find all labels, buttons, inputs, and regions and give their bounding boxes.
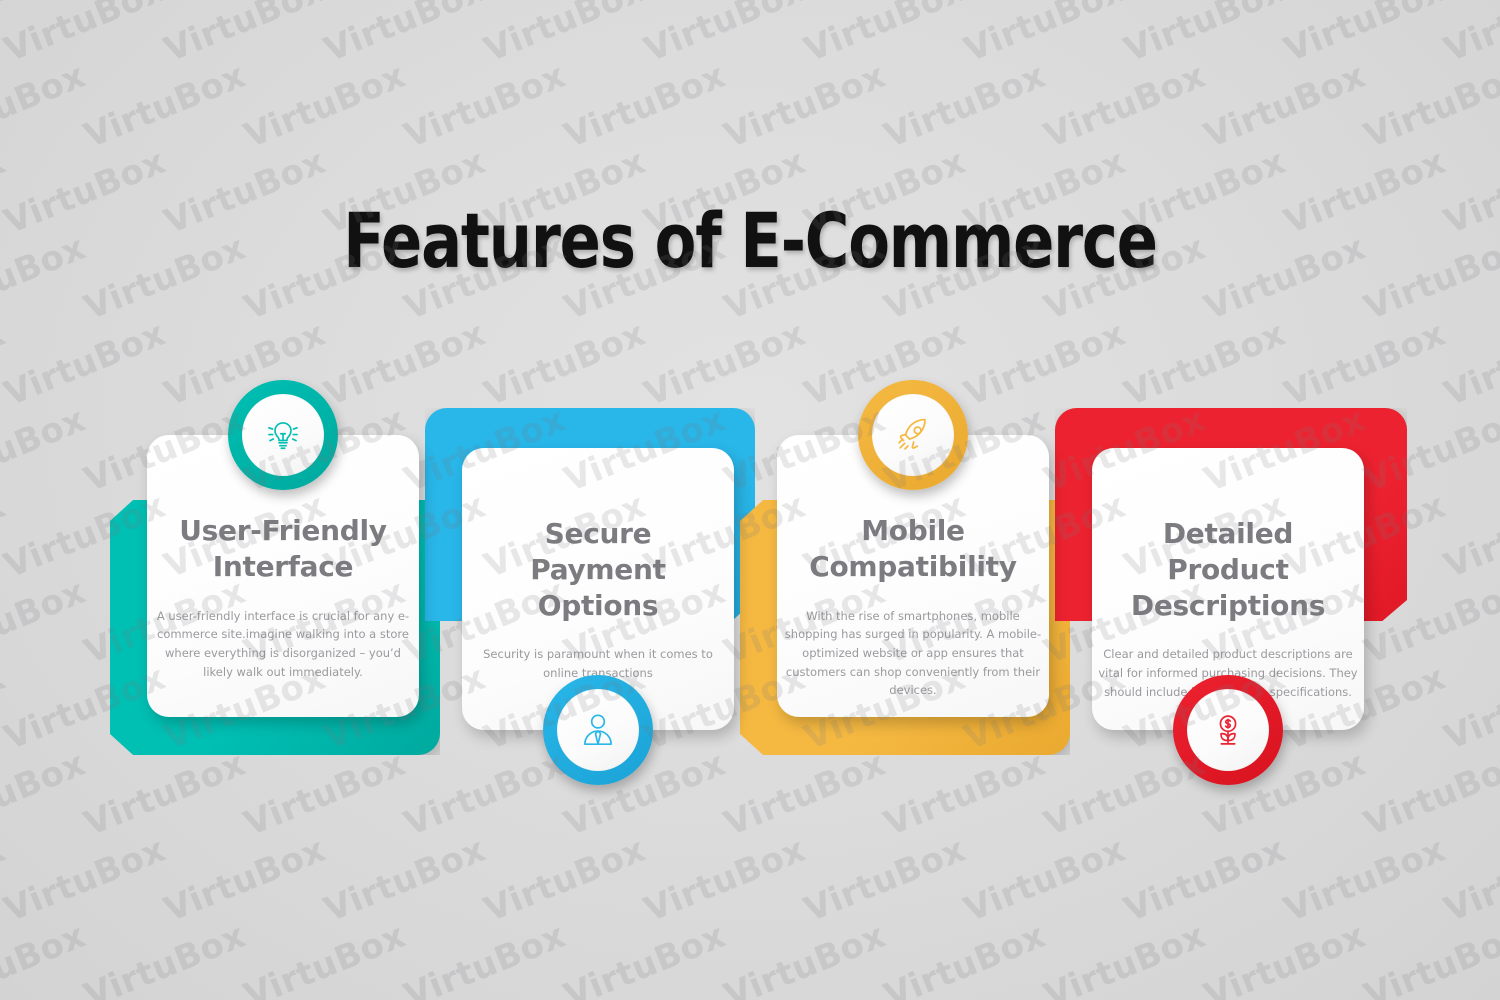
card-icon-disc — [557, 689, 639, 771]
feature-card[interactable]: Mobile CompatibilityWith the rise of sma… — [762, 425, 1062, 725]
card-icon-disc — [872, 394, 954, 476]
feature-card[interactable]: Detailed Product DescriptionsClear and d… — [1077, 428, 1377, 728]
card-icon-badge[interactable] — [543, 675, 653, 785]
feature-card[interactable]: Secure Payment OptionsSecurity is paramo… — [447, 428, 747, 728]
card-icon-badge[interactable] — [858, 380, 968, 490]
businessman-icon — [577, 709, 619, 751]
rocket-icon — [891, 413, 935, 457]
card-body-text: With the rise of smartphones, mobile sho… — [782, 607, 1043, 700]
feature-card[interactable]: User-Friendly InterfaceA user-friendly i… — [132, 425, 432, 725]
card-title: Mobile Compatibility — [788, 513, 1038, 585]
card-title: Detailed Product Descriptions — [1103, 516, 1353, 623]
card-icon-disc — [242, 394, 324, 476]
lightbulb-icon — [262, 414, 304, 456]
card-icon-disc — [1187, 689, 1269, 771]
card-icon-badge[interactable] — [1173, 675, 1283, 785]
page-title: Features of E-Commerce — [150, 196, 1350, 285]
money-plant-icon — [1207, 709, 1249, 751]
card-title: User-Friendly Interface — [158, 513, 408, 585]
card-icon-badge[interactable] — [228, 380, 338, 490]
card-title: Secure Payment Options — [473, 516, 723, 623]
feature-card-list: User-Friendly InterfaceA user-friendly i… — [0, 0, 1500, 1000]
card-body-text: A user-friendly interface is crucial for… — [152, 607, 413, 682]
